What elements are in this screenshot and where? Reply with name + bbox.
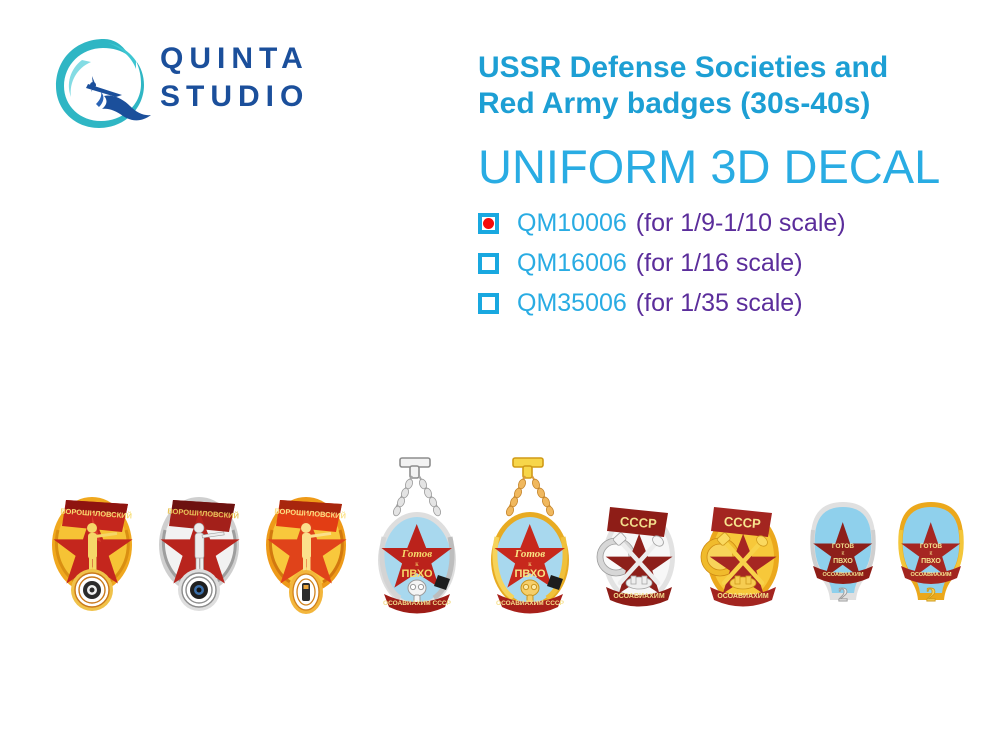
svg-text:СССР: СССР: [619, 514, 657, 532]
scale-option-checkbox-qm16006[interactable]: [478, 253, 499, 274]
svg-text:ОСОАВИАХИМ: ОСОАВИАХИМ: [822, 572, 863, 578]
product-title: USSR Defense Societies and Red Army badg…: [478, 50, 978, 122]
scale-option-code: QM35006: [517, 289, 627, 318]
badge-gallery: ВОРОШИЛОВСКИЙ: [0, 440, 1000, 650]
scale-options-list: QM10006 (for 1/9-1/10 scale) QM16006 (fo…: [478, 207, 978, 327]
svg-text:к: к: [528, 560, 532, 568]
badge-osoaviakhim-silver: СССР ОС: [596, 495, 684, 613]
svg-text:2: 2: [838, 584, 848, 606]
badge-ready-for-pvkho-silver-chain: Готов к ПВХО ОСОАВИАХИМ СССР: [372, 452, 468, 622]
svg-text:Готов: Готов: [514, 548, 545, 560]
badge-ready-for-pvkho-gold-chain: Готов к ПВХО ОСОАВИАХИМ СССР: [485, 452, 581, 622]
selected-dot-icon: [483, 218, 494, 229]
svg-text:К: К: [930, 551, 933, 557]
brand-name-line1: QUINTA: [160, 40, 309, 78]
svg-text:ОСОАВИАХИМ СССР: ОСОАВИАХИМ СССР: [383, 600, 452, 607]
svg-text:СССР: СССР: [723, 514, 761, 532]
scale-option-code: QM16006: [517, 249, 627, 278]
scale-option-row[interactable]: QM10006 (for 1/9-1/10 scale): [478, 207, 978, 239]
svg-text:К: К: [842, 551, 845, 557]
brand-wordmark: QUINTA STUDIO: [160, 40, 309, 116]
product-subtitle: UNIFORM 3D DECAL: [478, 140, 940, 194]
badge-voroshilov-sharpshooter-silver: ВОРОШИЛОВСКИЙ: [155, 490, 251, 615]
scale-option-row[interactable]: QM16006 (for 1/16 scale): [478, 247, 978, 279]
header: QUINTA STUDIO USSR Defense Societies and…: [0, 0, 1000, 330]
badge-ready-for-pvkho-2nd-degree-gold: ГОТОВ К ПВХО ОСОАВИАХИМ 2: [893, 500, 969, 612]
scale-option-scale: (for 1/9-1/10 scale): [636, 209, 846, 238]
scale-option-code: QM10006: [517, 209, 627, 238]
svg-text:ПВХО: ПВХО: [401, 568, 432, 580]
svg-text:ОСОАВИАХИМ: ОСОАВИАХИМ: [717, 593, 768, 600]
product-title-line2: Red Army badges (30s-40s): [478, 86, 978, 122]
brand-name-line2: STUDIO: [160, 78, 309, 116]
svg-text:ОСОАВИАХИМ: ОСОАВИАХИМ: [613, 593, 664, 600]
quinta-swoosh-plane-logo: [52, 36, 152, 132]
svg-text:2: 2: [926, 584, 936, 606]
scale-option-checkbox-qm35006[interactable]: [478, 293, 499, 314]
svg-text:ГОТОВ: ГОТОВ: [832, 543, 855, 550]
svg-text:ГОТОВ: ГОТОВ: [920, 543, 943, 550]
scale-option-scale: (for 1/35 scale): [636, 289, 803, 318]
svg-text:ОСОАВИАХИМ: ОСОАВИАХИМ: [910, 572, 951, 578]
product-title-line1: USSR Defense Societies and: [478, 50, 978, 86]
scale-option-checkbox-qm10006[interactable]: [478, 213, 499, 234]
badge-voroshilov-sharpshooter-gold: ВОРОШИЛОВСКИЙ: [48, 490, 144, 615]
badge-voroshilov-sharpshooter-orange: ВОРОШИЛОВСКИЙ: [262, 490, 358, 615]
scale-option-row[interactable]: QM35006 (for 1/35 scale): [478, 287, 978, 319]
svg-text:ПВХО: ПВХО: [514, 568, 545, 580]
svg-text:ПВХО: ПВХО: [833, 558, 853, 565]
svg-text:ПВХО: ПВХО: [921, 558, 941, 565]
brand-logo[interactable]: QUINTA STUDIO: [52, 34, 382, 134]
badge-ready-for-pvkho-2nd-degree-silver: ГОТОВ К ПВХО ОСОАВИАХИМ 2: [805, 500, 881, 612]
product-label-page: QUINTA STUDIO USSR Defense Societies and…: [0, 0, 1000, 750]
scale-option-scale: (for 1/16 scale): [636, 249, 803, 278]
svg-text:Готов: Готов: [401, 548, 432, 560]
svg-text:к: к: [415, 560, 419, 568]
svg-text:ОСОАВИАХИМ СССР: ОСОАВИАХИМ СССР: [496, 600, 565, 607]
badge-osoaviakhim-gold: СССР ОСОАВИАХИМ: [700, 495, 788, 613]
